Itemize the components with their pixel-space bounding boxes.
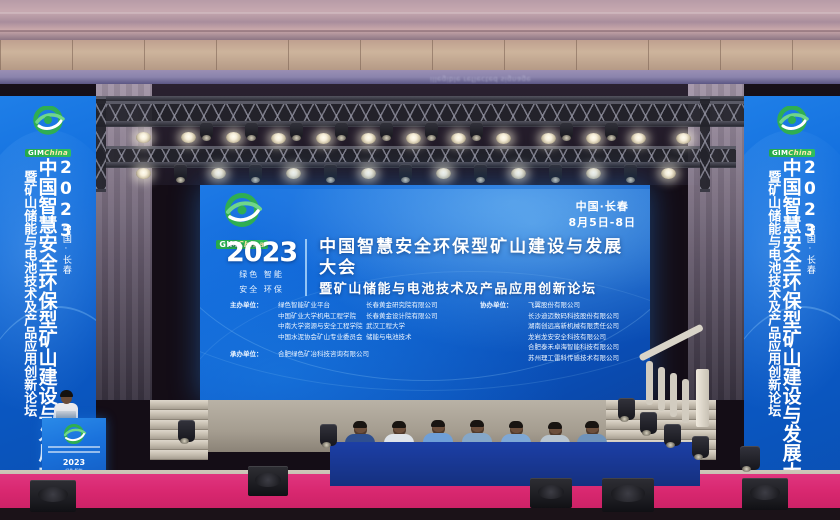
moving-head-light [290,122,303,139]
left-banner-place: 中国·长春 [61,224,70,275]
par-light [211,168,226,179]
floor-moving-head-light [740,446,760,470]
floor-moving-head-light [692,436,709,458]
host-item: 长春黄金设计院有限公司 [366,311,480,322]
par-light [136,132,151,143]
stage-monitor-speaker [602,478,654,512]
host-row: 主办单位： 绿色智能矿业平台 长春黄金研究院有限公司 [230,300,480,311]
truss-vertical-left [96,96,106,192]
moving-head-light [249,164,262,181]
coorganizer-item: 湖南创远高新机械有限责任公司 [528,321,636,332]
podium-year: 2023 [42,458,106,467]
screen-title-block: 2023 绿色 智能 安全 环保 中国智慧安全环保型矿山建设与发展大会 暨矿山储… [226,237,630,298]
truss-vertical-left-pattern [96,99,106,189]
right-banner-year-place: 2023 中国·长春 [801,158,818,510]
ceiling [0,0,840,40]
front-floor-shadow [0,508,840,520]
moving-head-light [335,122,348,139]
floor-moving-head-light [664,424,681,446]
balustrade-newel-post [696,369,709,427]
event-slogan-line-1: 绿色 智能 [226,269,297,281]
right-banner-place: 中国·长春 [805,224,814,275]
podium-text-line [48,451,100,453]
stage-monitor-speaker [248,466,288,496]
moving-head-light [245,122,258,139]
moving-head-light [200,122,213,139]
par-light [271,133,286,144]
panelist-hair [431,420,445,427]
panelist-hair [585,421,599,428]
moving-head-light [174,164,187,181]
panelist-hair [470,420,484,427]
stage-monitor-speaker [30,480,76,512]
moving-head-light [549,164,562,181]
moving-head-light [605,122,618,139]
floor-moving-head-light [618,398,635,420]
par-light [676,133,691,144]
stage-photo-scene: illegible reflected signage [0,0,840,520]
stage-monitor-speaker [530,478,572,508]
moving-head-light [470,122,483,139]
host-row: 中国水泥协会矿山专业委员会 储能与电池技术 [230,332,480,343]
host-item: 中国水泥协会矿山专业委员会 [278,332,366,343]
par-light [136,168,151,179]
host-label: 主办单位： [230,300,278,311]
gim-swoosh-icon [57,424,91,446]
ceiling-beam-strip [0,40,840,70]
baluster [682,379,689,423]
coorganizer-item: 苏州理工雷科传感技术有限公司 [528,353,636,364]
par-light [181,132,196,143]
truss-vertical-right [700,96,710,192]
sponsor-right-column: 协办单位： 飞翼股份有限公司 长沙迪迈数码科技股份有限公司 湖南创远高新机械有限… [480,300,636,363]
organizer-label: 承办单位： [230,349,278,360]
coorganizer-row: 协办单位： 飞翼股份有限公司 [480,300,636,311]
coorganizer-label-spacer [480,311,528,322]
event-title-sub: 暨矿山储能与电池技术及产品应用创新论坛 [319,282,630,299]
main-led-screen: GIMChina 中国·长春 8月5日-8日 2023 绿色 智能 安全 环保 … [200,185,650,400]
par-light [511,168,526,179]
moving-head-light [399,164,412,181]
par-light [406,133,421,144]
coorganizer-label-spacer [480,332,528,343]
speaker-hair [60,390,73,397]
coorganizer-item: 龙岩龙安安全科技有限公司 [528,332,636,343]
sponsor-gap [230,342,480,349]
coorganizer-item: 长沙迪迈数码科技股份有限公司 [528,311,636,322]
panelist-hair [353,421,367,428]
coorganizer-row: 合肥泰禾卓海智能科技有限公司 [480,342,636,353]
coorganizer-label: 协办单位： [480,300,528,311]
podium-text-line [48,446,100,448]
stage-monitor-speaker [742,478,788,510]
reflected-signage-text: illegible reflected signage [430,71,690,83]
host-item: 绿色智能矿业平台 [278,300,366,311]
screen-event-meta: 中国·长春 8月5日-8日 [568,199,636,231]
right-side-wall [688,84,744,400]
organizer-row: 承办单位： 合肥绿色矿冶科技咨询有限公司 [230,349,480,360]
moving-head-light [425,122,438,139]
hall-lintel [0,70,840,84]
par-light [496,133,511,144]
gim-wordmark: GIMChina [25,149,71,157]
right-banner-title-main: 中国智慧安全环保型矿山建设与发展大会 [780,158,799,510]
ceiling-panel-grid [0,40,840,70]
par-light [541,133,556,144]
par-light [436,168,451,179]
par-light [286,168,301,179]
baluster [670,373,677,417]
left-banner-logo: GIMChina [20,106,76,159]
moving-head-light [560,122,573,139]
event-year: 2023 [226,239,297,266]
moving-head-light [324,164,337,181]
right-banner-year: 2023 [801,158,818,222]
par-light [316,133,331,144]
gim-swoosh-icon [215,193,269,231]
right-banner-logo: GIMChina [764,106,820,159]
ceiling-seam [0,12,840,14]
par-light [451,133,466,144]
organizer-item: 合肥绿色矿冶科技咨询有限公司 [278,349,480,360]
event-title-main: 中国智慧安全环保型矿山建设与发展大会 [319,237,630,280]
event-location: 中国·长春 [568,199,636,215]
coorganizer-item: 合肥泰禾卓海智能科技有限公司 [528,342,636,353]
baluster [658,367,665,411]
baluster [646,361,653,405]
left-banner-title-sub: 暨矿山储能与电池技术及产品应用创新论坛 [22,158,35,510]
stair-step [150,410,208,420]
panelist-hair [392,421,406,428]
panelist-hair [509,421,523,428]
panelist-hair [548,422,562,429]
host-label-spacer [230,332,278,343]
host-label-spacer [230,311,278,322]
speaker-head [61,392,72,404]
screen-year-box: 2023 绿色 智能 安全 环保 [226,239,307,296]
screen-sponsor-block: 主办单位： 绿色智能矿业平台 长春黄金研究院有限公司 中国矿业大学机电工程学院 … [230,300,636,363]
par-light [631,133,646,144]
coorganizer-row: 龙岩龙安安全科技有限公司 [480,332,636,343]
moving-head-light [624,164,637,181]
par-light [226,132,241,143]
event-slogan-line-2: 安全 环保 [226,284,297,296]
host-item: 武汉工程大学 [366,321,480,332]
coorganizer-label-spacer [480,342,528,353]
event-dates: 8月5日-8日 [568,215,636,231]
par-light [661,168,676,179]
coorganizer-item: 飞翼股份有限公司 [528,300,636,311]
truss-mid-chord [60,121,760,126]
gim-wordmark: GIMChina [769,149,815,157]
host-item: 长春黄金研究院有限公司 [366,300,480,311]
left-banner-year: 2023 [57,158,74,222]
screen-titles: 中国智慧安全环保型矿山建设与发展大会 暨矿山储能与电池技术及产品应用创新论坛 [307,237,630,298]
ceiling-seam-lower [0,30,840,32]
right-banner-logo-text: GIMChina [764,140,820,159]
host-item: 中南大学资源与安全工程学院 [278,321,366,332]
truss-lower-chord [96,162,736,167]
floor-moving-head-light [320,424,337,446]
right-wall-texture [688,84,744,400]
moving-head-light [380,122,393,139]
stair-step [150,400,208,410]
right-banner-title-sub: 暨矿山储能与电池技术及产品应用创新论坛 [766,158,779,510]
coorganizer-label-spacer [480,353,528,364]
host-row: 中南大学资源与安全工程学院 武汉工程大学 [230,321,480,332]
coorganizer-label-spacer [480,321,528,332]
floor-moving-head-light [640,412,657,434]
stair-step [150,440,208,450]
host-item: 储能与电池技术 [366,332,480,343]
host-label-spacer [230,321,278,332]
left-banner-logo-text: GIMChina [20,140,76,159]
coorganizer-row: 长沙迪迈数码科技股份有限公司 [480,311,636,322]
truss-vertical-right-pattern [700,99,710,189]
par-light [586,133,601,144]
host-row: 中国矿业大学机电工程学院 长春黄金设计院有限公司 [230,311,480,322]
stair-step [150,450,208,460]
par-light [586,168,601,179]
coorganizer-row: 苏州理工雷科传感技术有限公司 [480,353,636,364]
moving-head-light [474,164,487,181]
floor-moving-head-light [178,420,195,442]
sponsor-left-column: 主办单位： 绿色智能矿业平台 长春黄金研究院有限公司 中国矿业大学机电工程学院 … [230,300,480,363]
gim-swoosh-icon [769,106,815,138]
coorganizer-row: 湖南创远高新机械有限责任公司 [480,321,636,332]
host-item: 中国矿业大学机电工程学院 [278,311,366,322]
par-light [361,168,376,179]
gim-swoosh-icon [25,106,71,138]
par-light [361,133,376,144]
